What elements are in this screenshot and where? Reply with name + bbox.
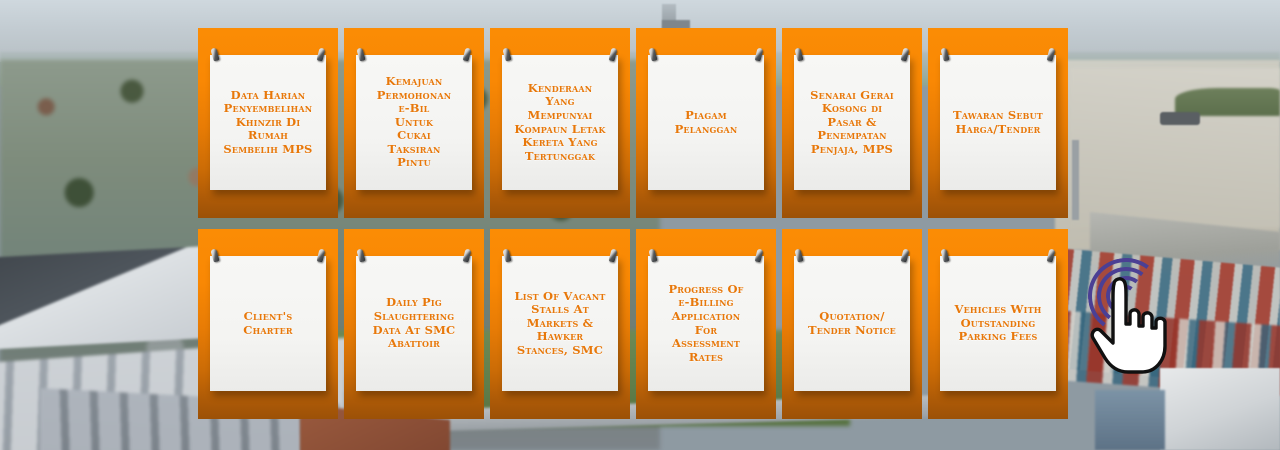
card-label: Data Harian Penyembelihan Khinzir Di Rum… [223,89,312,157]
quick-link-row-1: Data Harian Penyembelihan Khinzir Di Rum… [198,28,1082,218]
card-sheet: Data Harian Penyembelihan Khinzir Di Rum… [210,55,326,190]
pin-icon [609,248,618,262]
quick-link-card[interactable]: Data Harian Penyembelihan Khinzir Di Rum… [198,28,338,218]
card-label: Daily Pig Slaughtering Data At SMC Abatt… [373,296,456,350]
pin-icon [1047,248,1056,262]
card-label: Client's Charter [243,310,293,337]
pin-icon [1047,47,1056,61]
card-sheet: Client's Charter [210,256,326,391]
pin-icon [794,47,803,61]
card-sheet: Tawaran Sebut Harga/Tender [940,55,1056,190]
blue-building [1095,390,1165,450]
quick-link-card[interactable]: Kenderaan Yang Mempunyai Kompaun Letak K… [490,28,630,218]
quick-link-card[interactable]: Daily Pig Slaughtering Data At SMC Abatt… [344,229,484,419]
pin-icon [463,47,472,61]
quick-link-row-2: Client's Charter Daily Pig Slaughtering … [198,229,1082,419]
card-sheet: Senarai Gerai Kosong di Pasar & Penempat… [794,55,910,190]
card-label: Progress Of e-Billing Application For As… [668,283,743,364]
card-sheet: Vehicles With Outstanding Parking Fees [940,256,1056,391]
pin-icon [901,248,910,262]
card-label: List Of Vacant Stalls At Markets & Hawke… [514,290,605,358]
pin-icon [317,248,326,262]
page-stage: Data Harian Penyembelihan Khinzir Di Rum… [0,0,1280,450]
card-label: Senarai Gerai Kosong di Pasar & Penempat… [810,89,894,157]
quick-link-card[interactable]: Tawaran Sebut Harga/Tender [928,28,1068,218]
card-sheet: Kenderaan Yang Mempunyai Kompaun Letak K… [502,55,618,190]
card-label: Kenderaan Yang Mempunyai Kompaun Letak K… [514,82,605,163]
quick-link-card[interactable]: Piagam Pelanggan [636,28,776,218]
quick-link-card[interactable]: Client's Charter [198,229,338,419]
pin-icon [648,248,657,262]
card-sheet: List Of Vacant Stalls At Markets & Hawke… [502,256,618,391]
pin-icon [502,47,511,61]
pin-icon [210,47,219,61]
quick-link-card[interactable]: Progress Of e-Billing Application For As… [636,229,776,419]
pin-icon [356,248,365,262]
quick-link-grid: Data Harian Penyembelihan Khinzir Di Rum… [198,28,1082,423]
quick-link-card[interactable]: Senarai Gerai Kosong di Pasar & Penempat… [782,28,922,218]
quick-link-card[interactable]: Kemajuan Permohonan e-Bil Untuk Cukai Ta… [344,28,484,218]
card-sheet: Daily Pig Slaughtering Data At SMC Abatt… [356,256,472,391]
card-sheet: Kemajuan Permohonan e-Bil Untuk Cukai Ta… [356,55,472,190]
pin-icon [502,248,511,262]
pin-icon [210,248,219,262]
pin-icon [463,248,472,262]
pin-icon [648,47,657,61]
civic-building [0,246,200,349]
card-label: Vehicles With Outstanding Parking Fees [955,303,1042,344]
pin-icon [794,248,803,262]
card-label: Piagam Pelanggan [675,109,738,136]
quick-link-card[interactable]: Quotation/ Tender Notice [782,229,922,419]
quick-link-card[interactable]: Vehicles With Outstanding Parking Fees [928,229,1068,419]
pin-icon [940,248,949,262]
card-label: Tawaran Sebut Harga/Tender [953,109,1043,136]
card-sheet: Piagam Pelanggan [648,55,764,190]
white-building [1160,368,1280,450]
pin-icon [755,248,764,262]
pin-icon [940,47,949,61]
pin-icon [356,47,365,61]
pin-icon [755,47,764,61]
card-label: Quotation/ Tender Notice [808,310,896,337]
card-sheet: Progress Of e-Billing Application For As… [648,256,764,391]
quick-link-card[interactable]: List Of Vacant Stalls At Markets & Hawke… [490,229,630,419]
pin-icon [901,47,910,61]
card-sheet: Quotation/ Tender Notice [794,256,910,391]
pin-icon [609,47,618,61]
barge-boat [1160,112,1200,125]
pin-icon [317,47,326,61]
card-label: Kemajuan Permohonan e-Bil Untuk Cukai Ta… [377,75,452,170]
